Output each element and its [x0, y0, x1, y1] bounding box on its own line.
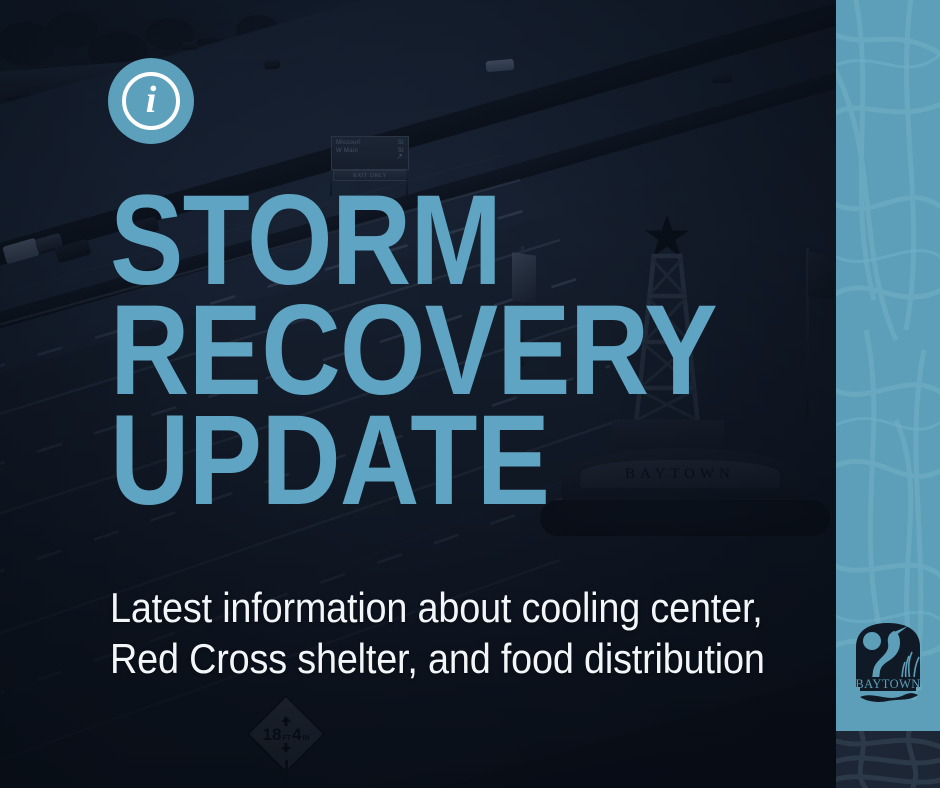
content-layer: i STORM RECOVERY UPDATE Latest informati…	[0, 0, 836, 788]
subtitle-line-2: Red Cross shelter, and food distribution	[110, 633, 758, 684]
headline-line-3: UPDATE	[110, 406, 712, 516]
subtitle: Latest information about cooling center,…	[110, 582, 758, 684]
sidebar-bottom-block	[836, 731, 940, 788]
headline: STORM RECOVERY UPDATE	[110, 186, 712, 516]
svg-text:BAYTOWN: BAYTOWN	[855, 677, 920, 691]
city-logo: BAYTOWN	[848, 621, 928, 705]
contour-pattern-dark	[836, 731, 940, 788]
info-icon: i	[122, 72, 180, 130]
information-badge: i	[108, 58, 194, 144]
subtitle-line-1: Latest information about cooling center,	[110, 582, 758, 633]
info-glyph: i	[146, 81, 157, 119]
announcement-graphic: Missouri St W Main St ↗ EXIT ONLY	[0, 0, 940, 788]
baytown-logo-icon: BAYTOWN	[848, 621, 928, 705]
